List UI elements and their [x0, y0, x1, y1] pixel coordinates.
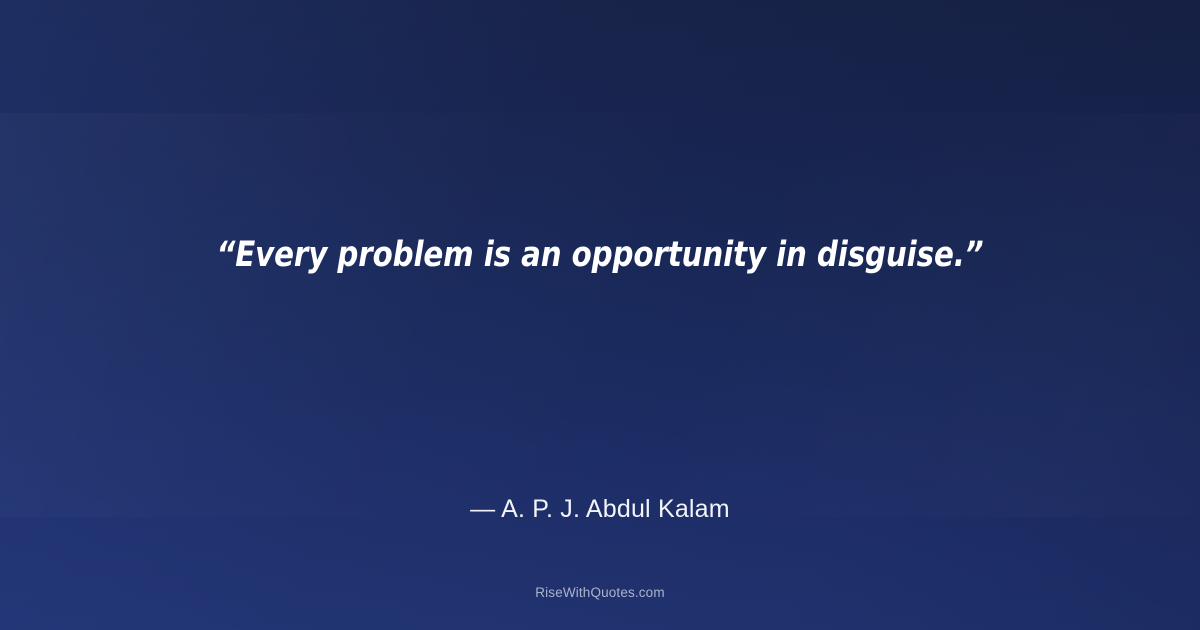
quote-text: “Every problem is an opportunity in disg…: [42, 232, 1158, 278]
site-watermark: RiseWithQuotes.com: [0, 584, 1200, 602]
quote-card: “Every problem is an opportunity in disg…: [0, 0, 1200, 630]
quote-content: “Every problem is an opportunity in disg…: [0, 0, 1200, 630]
quote-author: — A. P. J. Abdul Kalam: [0, 493, 1200, 525]
